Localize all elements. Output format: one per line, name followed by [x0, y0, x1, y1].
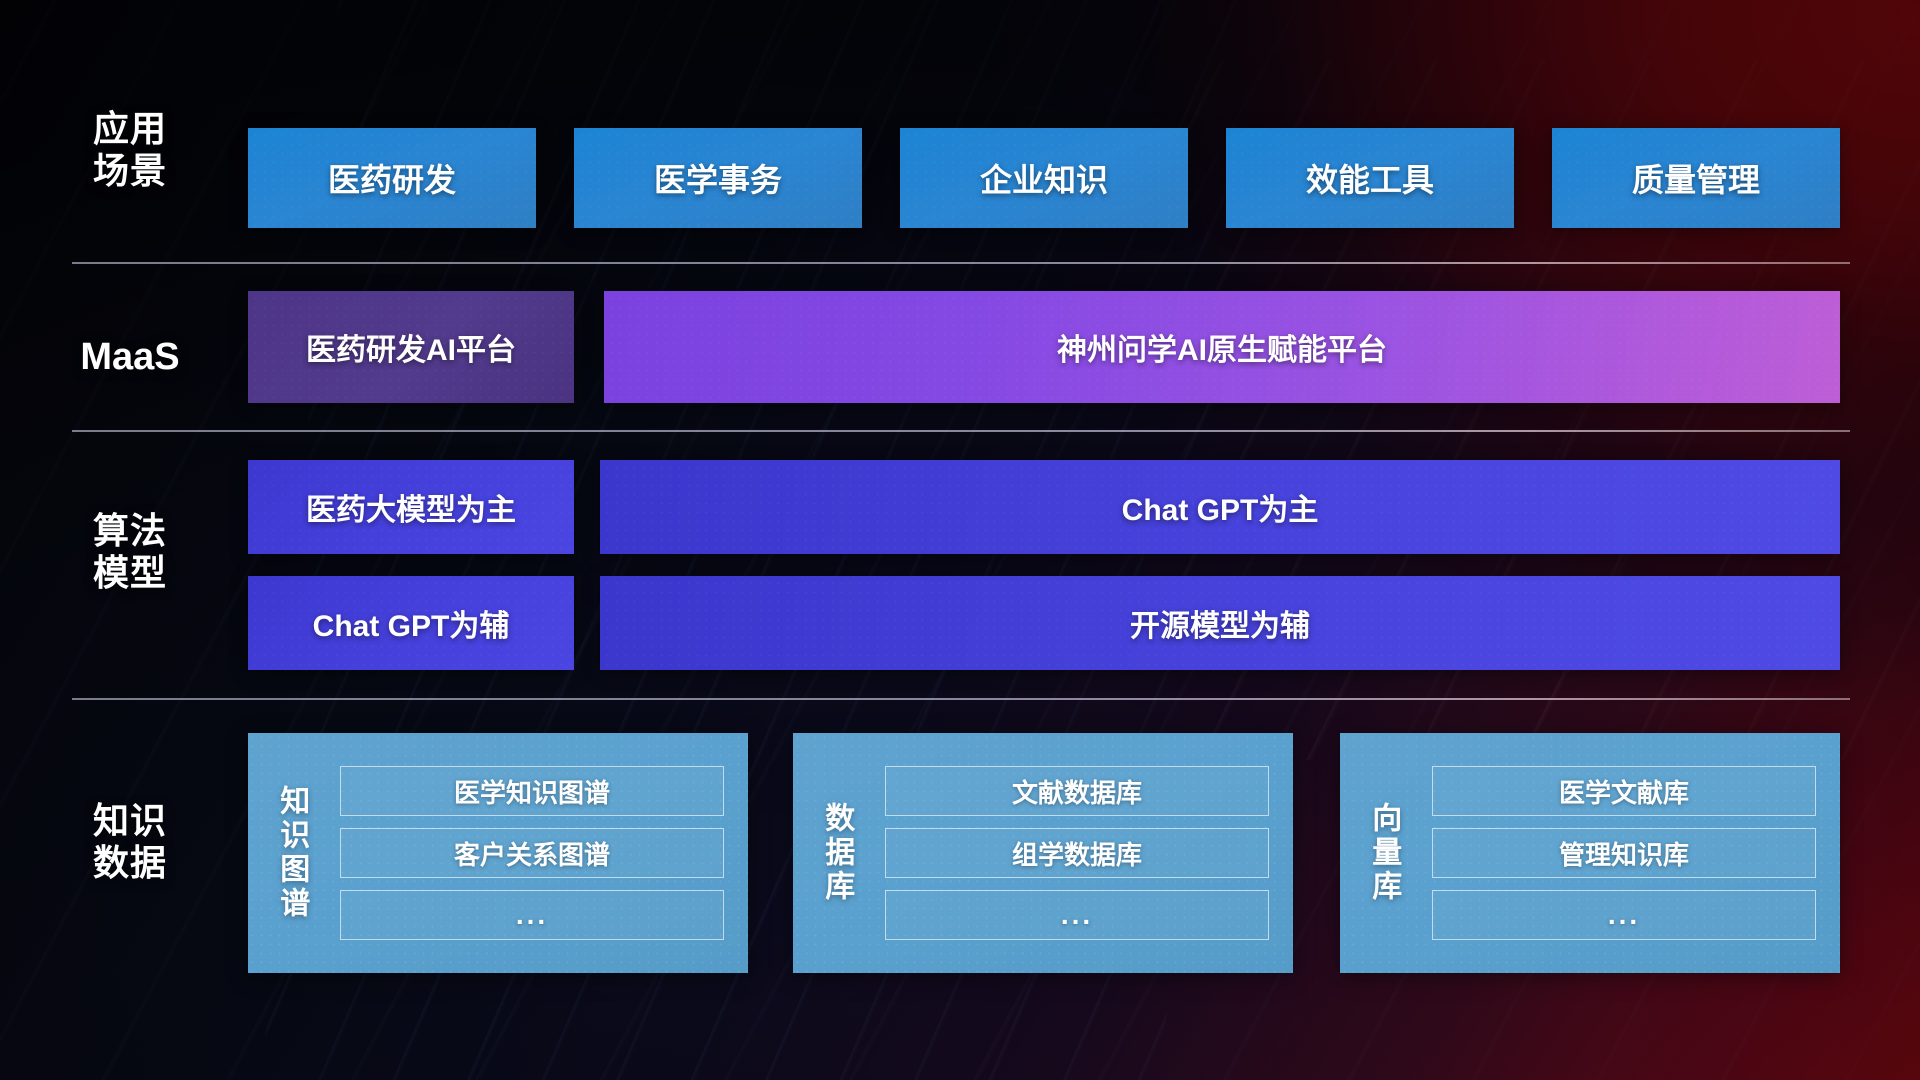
app-box-drug-rd-label: 医药研发 [328, 155, 456, 201]
knowledge-item[interactable]: 组学数据库 [885, 828, 1269, 878]
knowledge-item[interactable]: ... [1432, 890, 1816, 940]
row-label-maas: MaaS [40, 335, 220, 380]
app-box-quality-management[interactable]: 质量管理 [1552, 128, 1840, 228]
knowledge-group-graph-items: 医学知识图谱 客户关系图谱 ... [334, 733, 748, 973]
row-label-maas-text: MaaS [40, 335, 220, 380]
app-box-quality-management-label: 质量管理 [1632, 155, 1760, 201]
row-label-algorithm: 算法 模型 [40, 510, 220, 595]
algo-box-chatgpt-primary-label: Chat GPT为主 [1122, 485, 1319, 529]
knowledge-group-graph[interactable]: 知识图谱 医学知识图谱 客户关系图谱 ... [248, 733, 748, 973]
app-box-enterprise-knowledge[interactable]: 企业知识 [900, 128, 1188, 228]
algo-box-chatgpt-secondary[interactable]: Chat GPT为辅 [248, 576, 574, 670]
architecture-diagram: 应用 场景 医药研发 医学事务 企业知识 效能工具 质量管理 MaaS 医药研发… [0, 0, 1920, 1080]
knowledge-group-graph-label-text: 知识图谱 [273, 785, 310, 921]
divider-algorithm-knowledge [72, 698, 1850, 700]
knowledge-item[interactable]: 管理知识库 [1432, 828, 1816, 878]
knowledge-item[interactable]: ... [885, 890, 1269, 940]
knowledge-group-database-label-text: 数据库 [818, 802, 855, 904]
row-label-application-line2: 场景 [40, 150, 220, 192]
algo-box-drug-model-primary-label: 医药大模型为主 [306, 485, 516, 529]
app-box-medical-affairs-label: 医学事务 [654, 155, 782, 201]
maas-box-shenzhou-platform-label: 神州问学AI原生赋能平台 [1057, 325, 1387, 369]
app-box-enterprise-knowledge-label: 企业知识 [980, 155, 1108, 201]
app-box-medical-affairs[interactable]: 医学事务 [574, 128, 862, 228]
knowledge-group-database[interactable]: 数据库 文献数据库 组学数据库 ... [793, 733, 1293, 973]
algo-box-opensource-secondary[interactable]: 开源模型为辅 [600, 576, 1840, 670]
row-label-algorithm-line2: 模型 [40, 552, 220, 594]
maas-box-drug-rd-platform[interactable]: 医药研发AI平台 [248, 291, 574, 403]
knowledge-group-database-label: 数据库 [793, 733, 879, 973]
knowledge-item[interactable]: ... [340, 890, 724, 940]
knowledge-item[interactable]: 文献数据库 [885, 766, 1269, 816]
knowledge-group-vector-label-text: 向量库 [1365, 802, 1402, 904]
divider-maas-algorithm [72, 430, 1850, 432]
app-box-efficiency-tools[interactable]: 效能工具 [1226, 128, 1514, 228]
row-label-knowledge-line2: 数据 [40, 842, 220, 884]
knowledge-group-database-items: 文献数据库 组学数据库 ... [879, 733, 1293, 973]
knowledge-item[interactable]: 医学文献库 [1432, 766, 1816, 816]
algo-box-drug-model-primary[interactable]: 医药大模型为主 [248, 460, 574, 554]
knowledge-group-vector-items: 医学文献库 管理知识库 ... [1426, 733, 1840, 973]
app-box-drug-rd[interactable]: 医药研发 [248, 128, 536, 228]
divider-application-maas [72, 262, 1850, 264]
knowledge-group-vector-label: 向量库 [1340, 733, 1426, 973]
knowledge-item[interactable]: 客户关系图谱 [340, 828, 724, 878]
algo-box-chatgpt-secondary-label: Chat GPT为辅 [313, 601, 510, 645]
app-box-efficiency-tools-label: 效能工具 [1306, 155, 1434, 201]
maas-box-drug-rd-platform-label: 医药研发AI平台 [306, 325, 516, 369]
row-label-knowledge-line1: 知识 [40, 800, 220, 842]
maas-box-shenzhou-platform[interactable]: 神州问学AI原生赋能平台 [604, 291, 1840, 403]
row-label-application: 应用 场景 [40, 108, 220, 193]
algo-box-opensource-secondary-label: 开源模型为辅 [1130, 601, 1310, 645]
row-label-algorithm-line1: 算法 [40, 510, 220, 552]
knowledge-group-graph-label: 知识图谱 [248, 733, 334, 973]
row-label-knowledge: 知识 数据 [40, 800, 220, 885]
knowledge-item[interactable]: 医学知识图谱 [340, 766, 724, 816]
algo-box-chatgpt-primary[interactable]: Chat GPT为主 [600, 460, 1840, 554]
knowledge-group-vector[interactable]: 向量库 医学文献库 管理知识库 ... [1340, 733, 1840, 973]
row-label-application-line1: 应用 [40, 108, 220, 150]
